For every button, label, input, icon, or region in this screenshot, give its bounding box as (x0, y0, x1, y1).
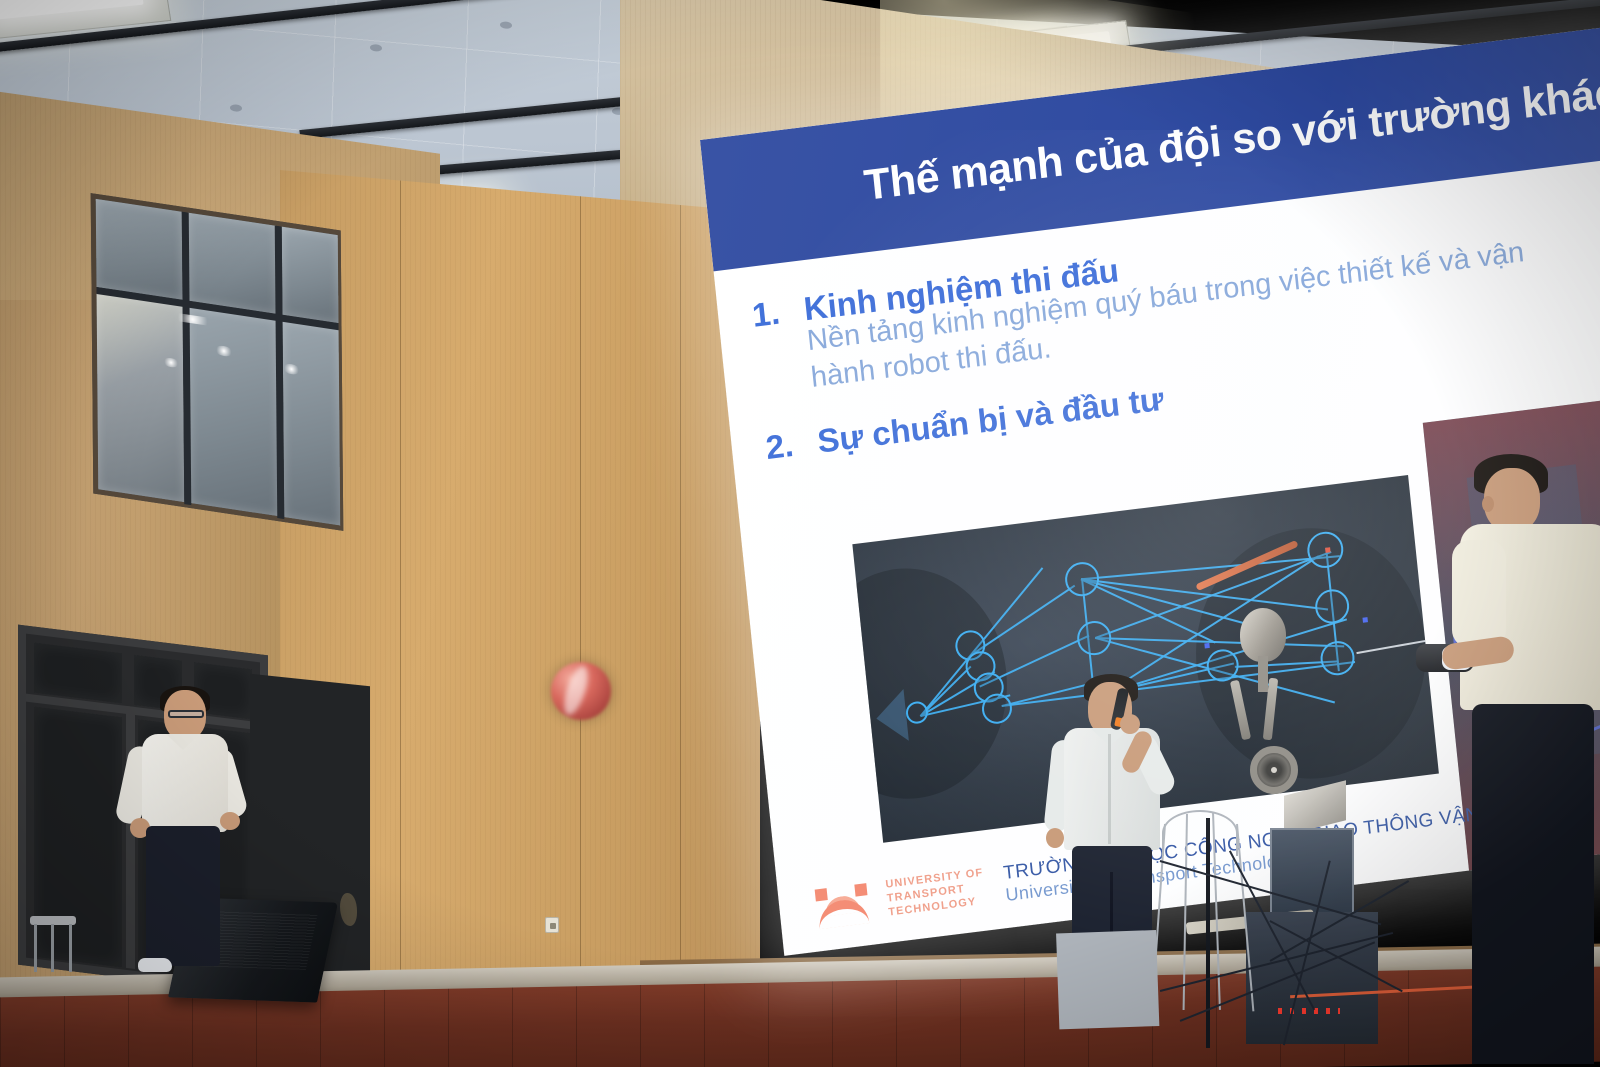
glasses (168, 710, 204, 718)
hand-right (220, 812, 240, 830)
ceiling-downlight (370, 44, 382, 52)
auditorium-scene: Thế mạnh của đội so với trường khác 1. K… (0, 0, 1600, 1067)
ceiling-downlight (230, 104, 242, 112)
ear (1482, 496, 1494, 512)
shirt-placket (1108, 734, 1111, 844)
robot-head-module (1240, 608, 1286, 662)
robot-status-leds (1278, 1008, 1340, 1014)
door-glass-panel (34, 643, 122, 704)
wall-outlet (545, 917, 559, 933)
robot-neck-joint (1258, 656, 1268, 692)
window-pane (282, 227, 339, 323)
competition-robot (1150, 560, 1410, 1060)
polo-shirt (142, 734, 228, 832)
cage-bar (1236, 824, 1254, 1011)
interior-window (91, 193, 344, 531)
panel-play-triangle-icon (874, 689, 909, 744)
right-student (1448, 448, 1600, 1067)
wall-panel-seam (400, 180, 401, 1067)
hand-left (1046, 828, 1064, 848)
nn-node (1076, 619, 1113, 657)
window-pane (189, 307, 279, 516)
wall-panel-seam (680, 205, 681, 1067)
robot-wheel (1250, 746, 1298, 794)
utt-logo-text: UNIVERSITY OF TRANSPORT TECHNOLOGY (885, 866, 987, 920)
bullet-number: 1. (750, 291, 806, 335)
nn-marker-dot (1325, 547, 1330, 553)
cage-arc (1162, 810, 1238, 856)
robot-chassis-frame (1270, 828, 1354, 920)
stool-leg (69, 924, 72, 972)
window-pane (283, 321, 341, 526)
robot-arm-segment (1230, 680, 1251, 741)
logo-block-right (854, 883, 867, 896)
wall-blemish (340, 893, 357, 926)
window-pane (97, 293, 185, 502)
flying-ball (551, 662, 611, 720)
ceiling-downlight (500, 21, 512, 29)
window-pane (188, 213, 277, 314)
logo-block-left (815, 888, 828, 901)
window-pane (96, 199, 183, 300)
nn-node (1063, 560, 1100, 598)
wall-panel-seam (580, 196, 581, 1067)
shoe (138, 958, 172, 972)
sleeve (1452, 540, 1506, 648)
trousers (1472, 704, 1594, 1064)
left-student (112, 690, 252, 990)
utt-logo-icon (811, 879, 873, 930)
stool-leg (34, 924, 37, 972)
cage-ring (1056, 930, 1159, 1029)
trousers (146, 826, 220, 966)
hand-right (1120, 714, 1140, 734)
stool-leg (51, 924, 54, 972)
bullet-number: 2. (764, 423, 820, 467)
metal-stool[interactable] (30, 916, 76, 972)
logo-outer-arc (817, 897, 869, 929)
